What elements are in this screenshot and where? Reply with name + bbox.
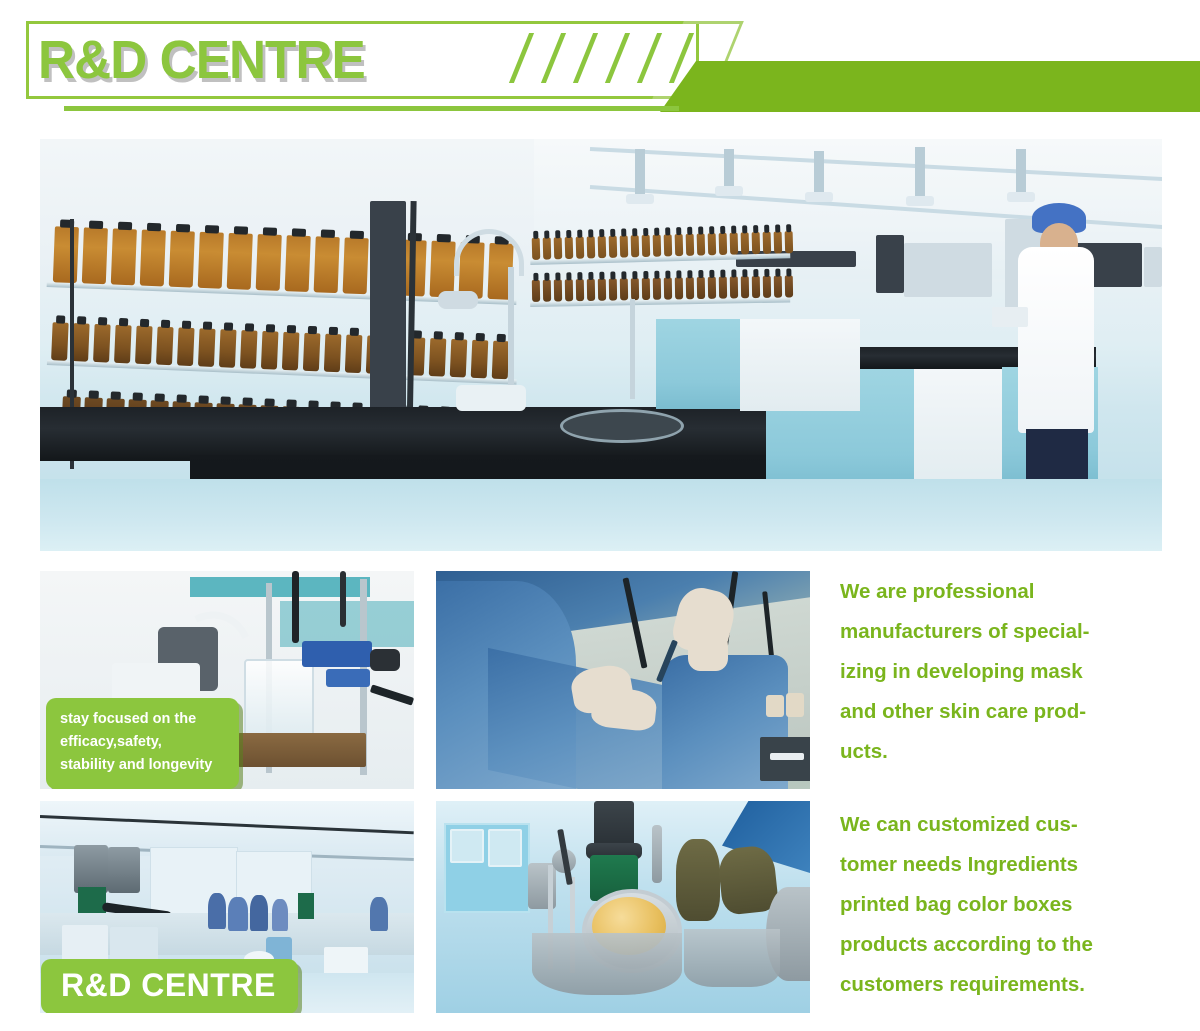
- amber-reagent-bottle: [752, 276, 760, 298]
- amber-reagent-bottle: [763, 232, 772, 254]
- amber-reagent-bottle: [609, 278, 617, 300]
- cleanroom-equipment: [62, 925, 108, 961]
- amber-reagent-bottle: [82, 227, 108, 284]
- amber-reagent-bottle: [664, 278, 672, 300]
- amber-reagent-bottle: [554, 279, 562, 301]
- amber-reagent-bottle: [752, 232, 761, 254]
- cleanroom-worker: [250, 895, 268, 931]
- amber-reagent-bottle: [741, 232, 750, 254]
- copy-1-line-3: izing in developing mask: [840, 652, 1180, 692]
- amber-reagent-bottle: [642, 235, 651, 257]
- amber-reagent-bottle: [227, 233, 253, 290]
- mixing-vessel-image: [436, 801, 810, 1013]
- right-bench-drawer: [914, 369, 1002, 487]
- vessel-shadowed-drum: [676, 839, 720, 921]
- amber-reagent-bottle: [282, 332, 300, 371]
- beaker-experiment-panel: stay focused on the efficacy,safety, sta…: [40, 571, 414, 789]
- amber-reagent-bottle: [653, 235, 662, 257]
- amber-reagent-bottle: [256, 234, 282, 291]
- clamp-knob: [370, 649, 400, 671]
- amber-reagent-bottle: [314, 236, 340, 293]
- amber-reagent-bottle: [620, 235, 629, 257]
- rd-centre-page: R&D CENTRE: [0, 0, 1200, 1031]
- amber-reagent-bottle: [532, 238, 541, 260]
- amber-reagent-bottle: [51, 322, 69, 361]
- sink-basin: [560, 409, 684, 443]
- amber-reagent-bottle: [72, 323, 90, 362]
- cleanroom-worker: [208, 893, 226, 929]
- amber-reagent-bottle: [719, 233, 728, 255]
- mixing-vessel-panel: [436, 801, 810, 1013]
- amber-reagent-bottle: [198, 328, 216, 367]
- bench-top: [40, 407, 852, 461]
- amber-reagent-bottle: [429, 338, 447, 377]
- ceiling-lamp: [724, 149, 734, 189]
- door-window: [450, 829, 484, 863]
- amber-reagent-bottle: [219, 329, 237, 368]
- amber-reagent-bottle: [785, 231, 794, 253]
- faucet-stem: [630, 299, 635, 399]
- amber-reagent-bottle: [532, 280, 540, 302]
- amber-reagent-bottle: [631, 235, 640, 257]
- amber-reagent-bottle: [587, 236, 596, 258]
- amber-reagent-bottle: [285, 235, 311, 292]
- adjacent-tank-base: [684, 929, 780, 987]
- vessel-base: [532, 933, 682, 995]
- hero-laboratory-panel: modern laboratory: [40, 139, 1162, 551]
- amber-reagent-bottle: [686, 277, 694, 299]
- amber-reagent-bottle: [543, 280, 551, 302]
- amber-reagent-bottle: [686, 234, 695, 256]
- gloved-hand: [688, 629, 728, 671]
- machine-green-part: [298, 893, 314, 919]
- copy-2-line-3: printed bag color boxes: [840, 885, 1180, 925]
- amber-reagent-bottle: [111, 228, 137, 285]
- amber-reagent-bottle: [785, 275, 793, 297]
- amber-reagent-bottle: [324, 334, 342, 373]
- header-green-band: [660, 61, 1200, 112]
- amber-reagent-bottle: [609, 236, 618, 258]
- cleanroom-worker: [370, 897, 388, 931]
- amber-reagent-bottle: [741, 276, 749, 298]
- hotplate: [238, 733, 366, 767]
- mixer-motor: [594, 801, 634, 847]
- amber-reagent-bottle: [53, 226, 79, 283]
- ceiling-lamp: [1016, 149, 1026, 195]
- amber-reagent-bottle: [156, 327, 174, 366]
- amber-reagent-bottle: [730, 276, 738, 298]
- amber-reagent-bottle: [774, 276, 782, 298]
- copy-2-line-2: tomer needs Ingredients: [840, 845, 1180, 885]
- beaker-caption-line-3: stability and longevity: [60, 754, 223, 777]
- copy-paragraph-1: We are professional manufacturers of spe…: [840, 572, 1180, 772]
- copy-1-line-5: ucts.: [840, 732, 1180, 772]
- lab-instrument: [1144, 247, 1162, 287]
- amber-reagent-bottle: [664, 234, 673, 256]
- faucet-stem: [508, 267, 514, 397]
- amber-reagent-bottle: [708, 277, 716, 299]
- amber-reagent-bottle: [697, 277, 705, 299]
- amber-reagent-bottle: [719, 277, 727, 299]
- amber-reagent-bottle: [708, 233, 717, 255]
- beaker-caption-line-1: stay focused on the: [60, 708, 223, 731]
- amber-reagent-bottle: [598, 279, 606, 301]
- technician-hand-sample: [992, 307, 1028, 327]
- copy-1-line-1: We are professional: [840, 572, 1180, 612]
- faucet-handle: [438, 291, 478, 309]
- cleanroom-machine: [74, 845, 108, 893]
- amber-reagent-bottle: [565, 279, 573, 301]
- lab-instrument: [876, 235, 904, 293]
- amber-reagent-bottle: [587, 279, 595, 301]
- sample-vial: [786, 693, 804, 717]
- hero-laboratory-image: [40, 139, 1162, 551]
- amber-reagent-bottle: [653, 278, 661, 300]
- amber-reagent-bottle: [114, 325, 132, 364]
- beaker-caption-badge: stay focused on the efficacy,safety, sta…: [46, 698, 239, 789]
- amber-reagent-bottle: [343, 237, 369, 294]
- amber-reagent-bottle: [140, 230, 166, 287]
- amber-reagent-bottle: [240, 330, 258, 369]
- copy-1-line-2: manufacturers of special-: [840, 612, 1180, 652]
- cleanroom-caption-badge: R&D CENTRE: [41, 959, 298, 1013]
- reaction-vessel: [244, 659, 314, 743]
- amber-reagent-bottle: [642, 278, 650, 300]
- sample-vial: [766, 695, 784, 717]
- ceiling-lamp: [915, 147, 925, 199]
- cleanroom-equipment: [110, 927, 158, 961]
- amber-reagent-bottle: [631, 278, 639, 300]
- amber-reagent-bottle: [135, 326, 153, 365]
- beaker-caption-line-2: efficacy,safety,: [60, 731, 223, 754]
- amber-reagent-bottle: [198, 232, 224, 289]
- amber-reagent-bottle: [93, 324, 111, 363]
- reagent-shelf-back-lower: [530, 272, 790, 307]
- ceiling-lamp: [814, 151, 824, 195]
- amber-reagent-bottle: [430, 241, 456, 298]
- copy-paragraph-2: We can customized cus- tomer needs Ingre…: [840, 805, 1180, 1005]
- amber-reagent-bottle: [554, 237, 563, 259]
- copy-2-line-1: We can customized cus-: [840, 805, 1180, 845]
- amber-reagent-bottle: [169, 231, 195, 288]
- cleanroom-panel: R&D CENTRE: [40, 801, 414, 1013]
- lab-workers-panel: [436, 571, 810, 789]
- copy-2-line-4: products according to the: [840, 925, 1180, 965]
- copy-1-line-4: and other skin care prod-: [840, 692, 1180, 732]
- label-strip: [770, 753, 804, 760]
- copy-2-line-5: customers requirements.: [840, 965, 1180, 1005]
- amber-reagent-bottle: [730, 233, 739, 255]
- cleanroom-worker: [228, 897, 248, 931]
- lab-instrument: [904, 243, 992, 297]
- amber-reagent-bottle: [675, 234, 684, 256]
- amber-reagent-bottle: [675, 277, 683, 299]
- technician-coat: [1018, 247, 1094, 433]
- amber-reagent-bottle: [576, 237, 585, 259]
- power-cable: [340, 571, 346, 627]
- lab-clamp: [302, 641, 372, 667]
- amber-reagent-bottle: [763, 276, 771, 298]
- amber-reagent-bottle: [471, 340, 489, 379]
- lab-clamp: [326, 669, 370, 687]
- cleanroom-caption-text: R&D CENTRE: [61, 965, 276, 1005]
- ceiling-lamp: [635, 149, 645, 197]
- vessel-pipe: [652, 825, 662, 883]
- amber-reagent-bottle: [697, 233, 706, 255]
- amber-reagent-bottle: [303, 333, 321, 372]
- cleanroom-worker: [272, 899, 288, 931]
- amber-reagent-bottle: [576, 279, 584, 301]
- amber-reagent-bottle: [598, 236, 607, 258]
- header-underline-bar: [64, 106, 679, 111]
- amber-reagent-bottle: [620, 278, 628, 300]
- amber-reagent-bottle: [261, 331, 279, 370]
- lab-workers-image: [436, 571, 810, 789]
- lab-floor: [40, 479, 1162, 551]
- mid-bench-drawer: [740, 319, 860, 411]
- bench-tray: [456, 385, 526, 411]
- page-title: R&D CENTRE: [38, 26, 365, 94]
- power-cable: [292, 571, 299, 643]
- amber-reagent-bottle: [774, 231, 783, 253]
- amber-reagent-bottle: [450, 339, 468, 378]
- amber-reagent-bottle: [492, 341, 510, 380]
- amber-reagent-bottle: [565, 237, 574, 259]
- amber-reagent-bottle: [345, 334, 363, 373]
- cleanroom-machine: [108, 847, 140, 893]
- amber-reagent-bottle: [177, 327, 195, 366]
- page-header: R&D CENTRE: [0, 0, 1200, 130]
- amber-reagent-bottle: [543, 237, 552, 259]
- door-window: [488, 829, 522, 867]
